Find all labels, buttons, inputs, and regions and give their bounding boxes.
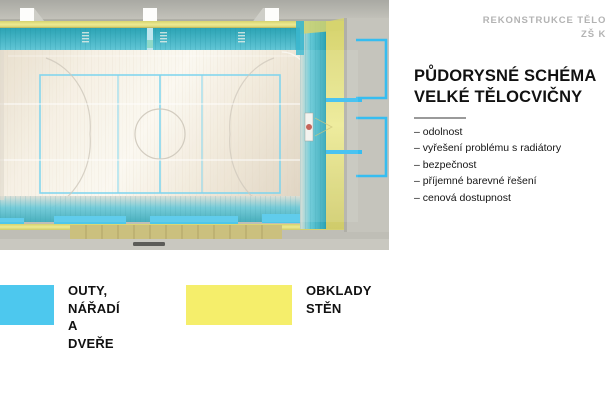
- list-item: – vyřešení problému s radiátory: [414, 140, 606, 156]
- legend-label-doors-equipment: OUTY, NÁŘADÍ A DVEŘE: [68, 282, 120, 352]
- legend-label-wall-tiles: OBKLADY STĚN: [306, 282, 372, 317]
- header-line-2: ZŠ KU: [414, 28, 606, 42]
- project-header: REKONSTRUKCE TĚLOC ZŠ KU: [414, 14, 606, 42]
- color-swatch-blue: [0, 285, 54, 325]
- title-line-2: VELKÉ TĚLOCVIČNY: [414, 87, 606, 108]
- requirements-list: – odolnost – vyřešení problému s radiáto…: [414, 124, 606, 206]
- gym-floor-plan-render: [0, 0, 389, 250]
- list-item: – cenová dostupnost: [414, 190, 606, 206]
- page-title: PŮDORYSNÉ SCHÉMA VELKÉ TĚLOCVIČNY: [414, 66, 606, 119]
- bleachers: [70, 225, 282, 239]
- title-divider: [414, 117, 466, 119]
- list-item: – příjemné barevné řešení: [414, 173, 606, 189]
- color-swatch-yellow: [186, 285, 292, 325]
- list-item: – odolnost: [414, 124, 606, 140]
- title-line-1: PŮDORYSNÉ SCHÉMA: [414, 66, 606, 87]
- list-item: – bezpečnost: [414, 157, 606, 173]
- header-line-1: REKONSTRUKCE TĚLOC: [414, 14, 606, 28]
